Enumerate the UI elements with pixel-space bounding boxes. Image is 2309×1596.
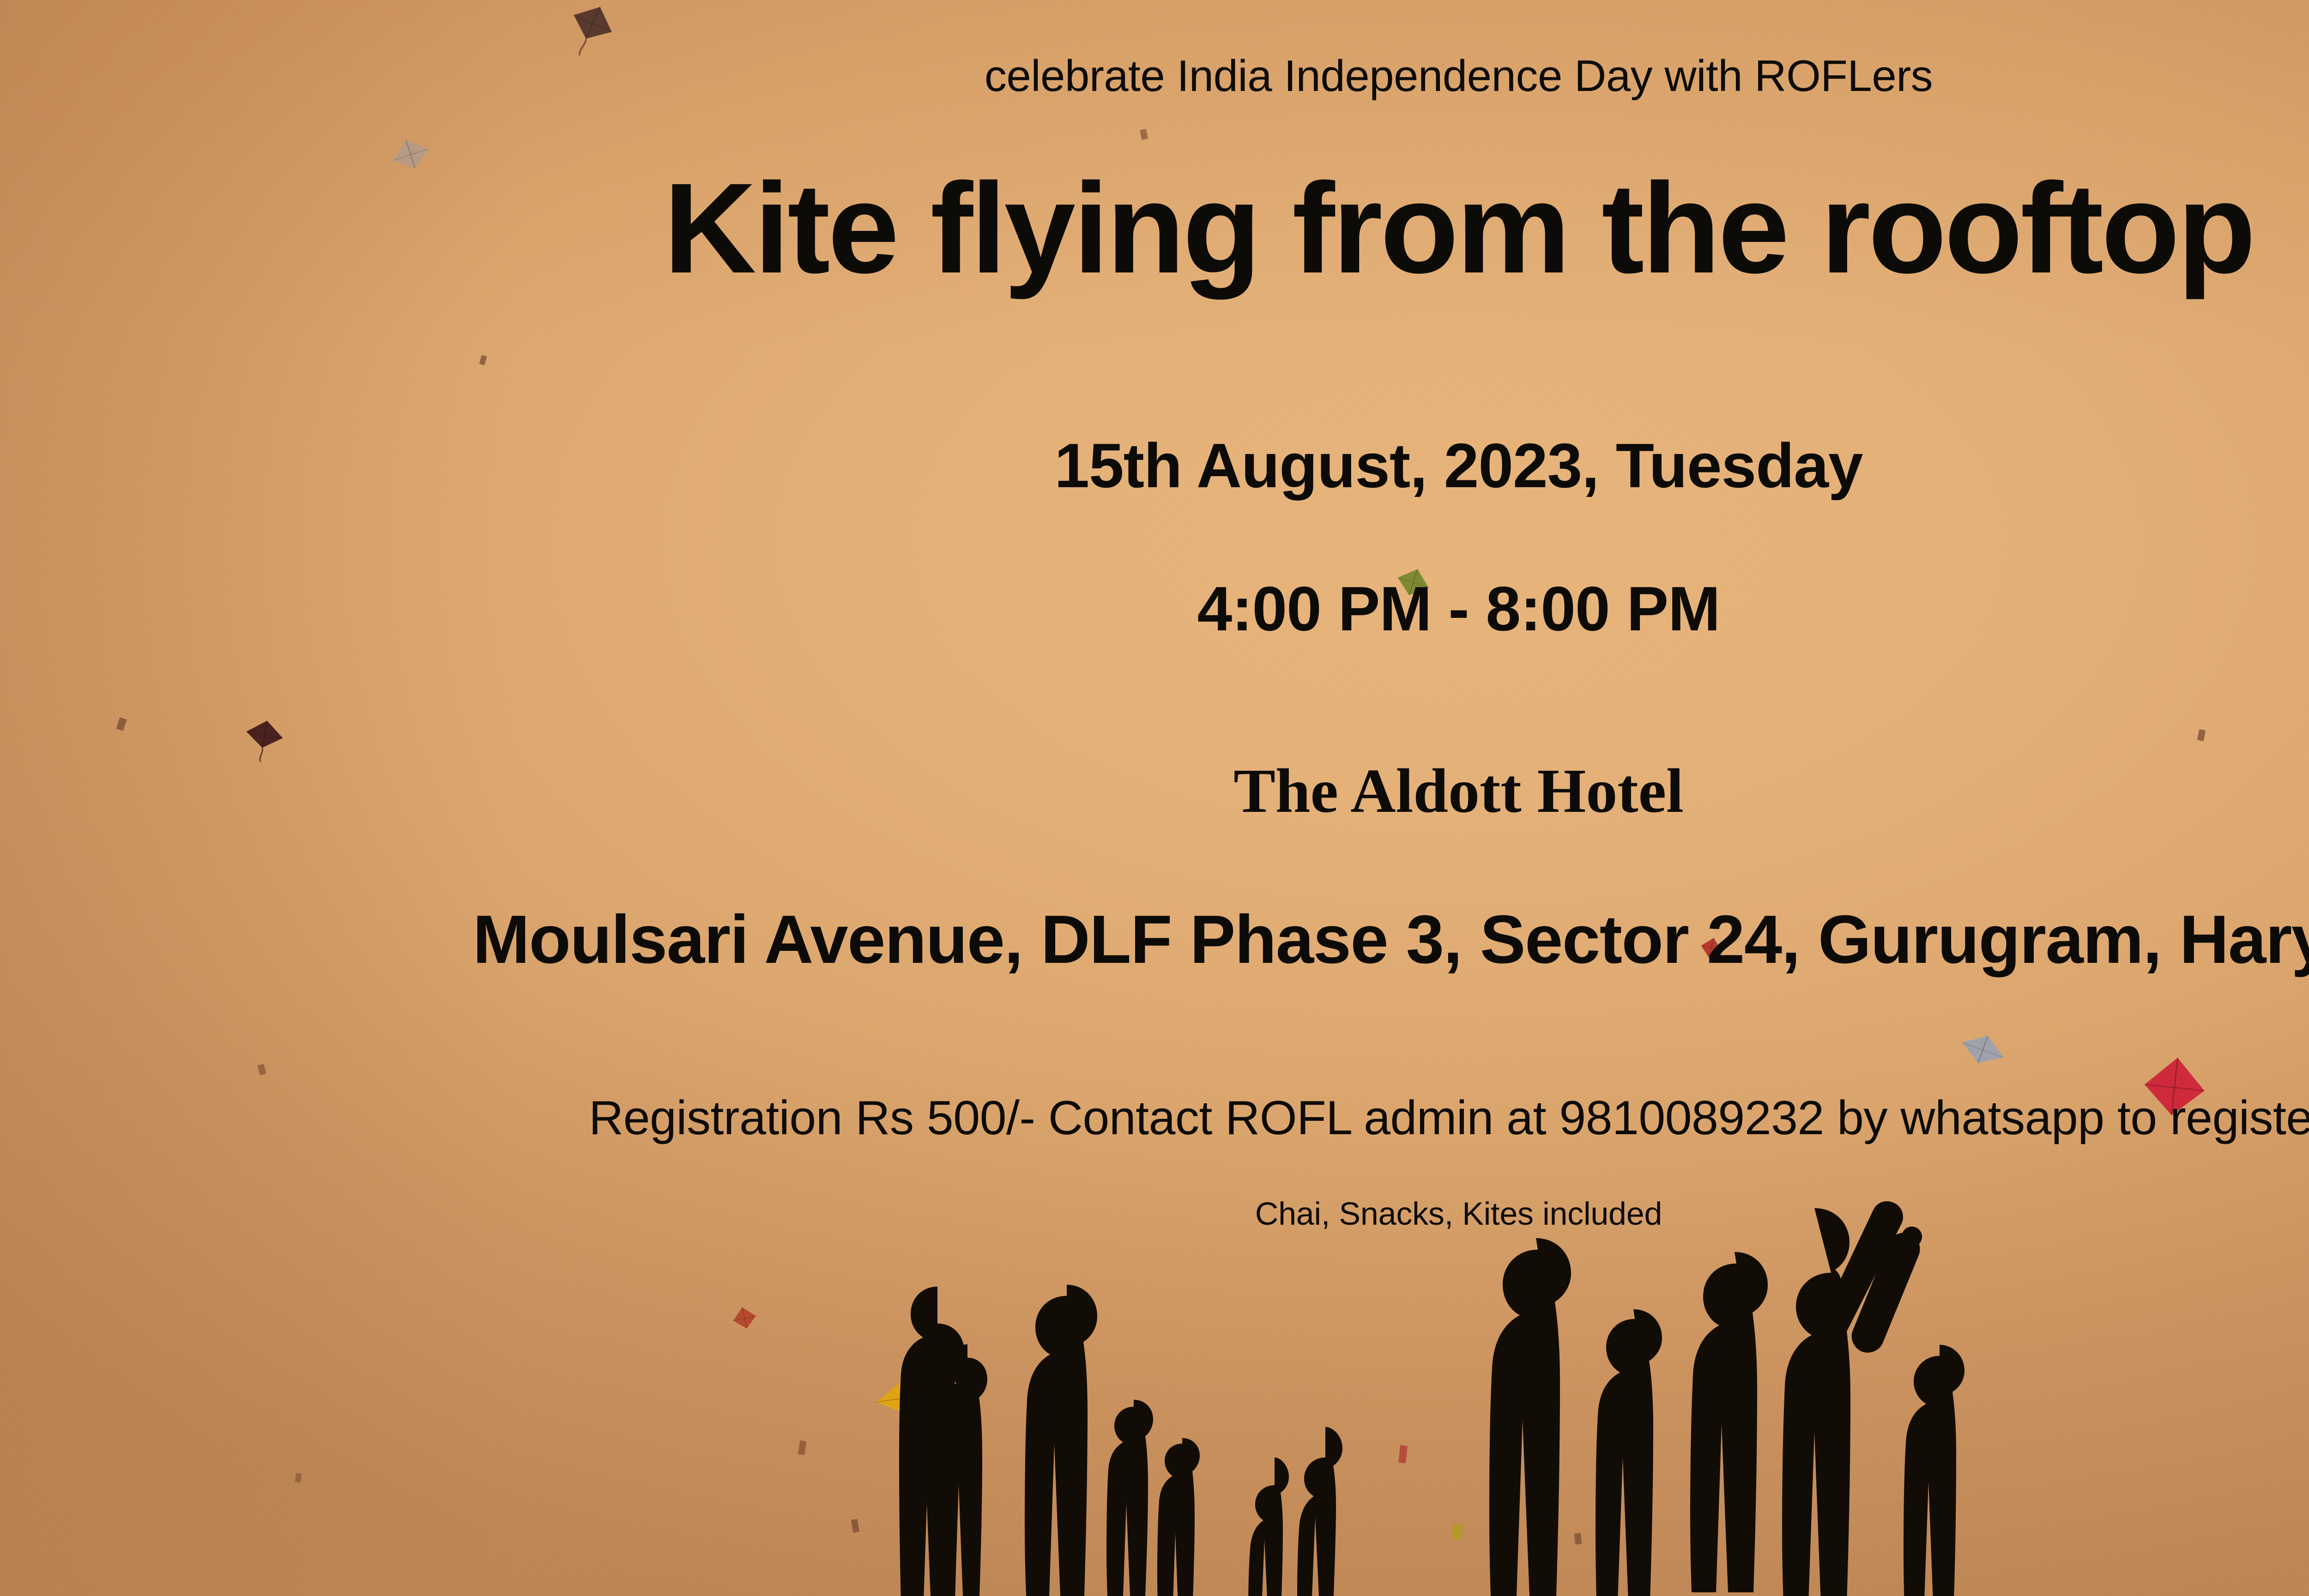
event-time: 4:00 PM - 8:00 PM [0, 573, 2309, 645]
event-date: 15th August, 2023, Tuesday [0, 429, 2309, 502]
venue-address: Moulsari Avenue, DLF Phase 3, Sector 24,… [0, 901, 2309, 979]
poster-text-block: celebrate India Independence Day with RO… [0, 0, 2309, 1596]
inclusions-note: Chai, Snacks, Kites included [0, 1195, 2309, 1232]
poster-title: Kite flying from the rooftop [0, 164, 2309, 292]
registration-info: Registration Rs 500/- Contact ROFL admin… [0, 1091, 2309, 1146]
venue-name: The Aldott Hotel [0, 755, 2309, 827]
event-poster: celebrate India Independence Day with RO… [0, 0, 2309, 1596]
poster-eyebrow: celebrate India Independence Day with RO… [0, 51, 2309, 102]
